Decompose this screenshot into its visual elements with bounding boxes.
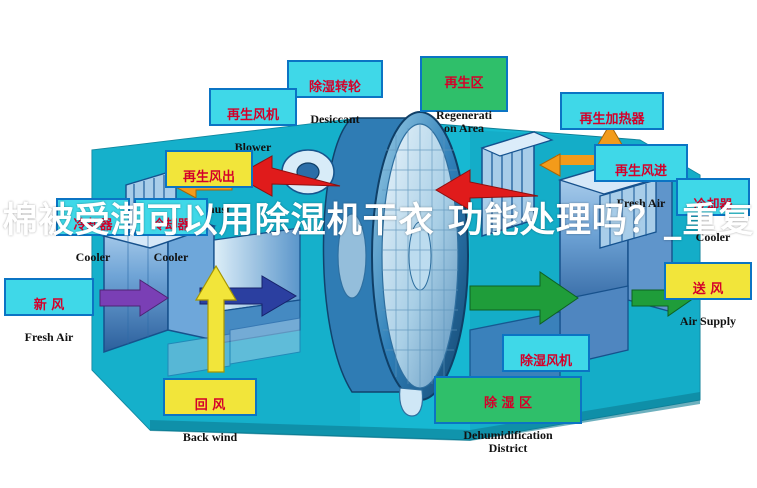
label-desiccant-wheel-zh: 除湿转轮 (289, 81, 381, 95)
label-air-supply-en: Air Supply (666, 315, 750, 328)
label-fresh-air: 新 风 Fresh Air (4, 278, 94, 316)
label-back-wind-zh: 回 风 (165, 399, 255, 413)
label-regeneration-area-en: Regenerati on Area (422, 109, 506, 135)
label-cooler-left-2-en: Cooler (136, 251, 206, 264)
label-dehumidification-district-zh: 除 湿 区 (436, 397, 580, 411)
label-air-supply: 送 风 Air Supply (664, 262, 752, 300)
label-regeneration-heater: 再生加热器 heater (560, 92, 664, 130)
label-cooler-left-en: Cooler (58, 251, 128, 264)
label-dehumidification-blower: 除湿风机 Blower (502, 334, 590, 372)
label-regeneration-exhaust-zh: 再生风出 (167, 171, 251, 185)
overlay-title: 棉被受潮可以用除湿机干衣 功能处理吗？_重复 (0, 198, 757, 244)
label-fresh-air-zh: 新 风 (6, 299, 92, 313)
diagram-canvas: 除湿转轮 Desiccant 再生区 Regenerati on Area 再生… (0, 0, 757, 488)
label-regeneration-blower-zh: 再生风机 (211, 109, 295, 123)
label-regeneration-exhaust: 再生风出 Exhaust (165, 150, 253, 188)
label-desiccant-wheel-en: Desiccant (289, 113, 381, 126)
label-desiccant-wheel: 除湿转轮 Desiccant (287, 60, 383, 98)
label-air-supply-zh: 送 风 (666, 283, 750, 297)
desiccant-wheel-graphic (323, 112, 468, 416)
label-regeneration-fresh-air-in: 再生风进 Fresh Air (594, 144, 688, 182)
label-back-wind-en: Back wind (165, 431, 255, 444)
label-dehumidification-district: 除 湿 区 Dehumidification District (434, 376, 582, 424)
label-regeneration-area: 再生区 Regenerati on Area (420, 56, 508, 112)
label-back-wind: 回 风 Back wind (163, 378, 257, 416)
label-regeneration-area-zh: 再生区 (422, 77, 506, 91)
label-dehumidification-district-en: Dehumidification District (436, 429, 580, 455)
label-regeneration-blower: 再生风机 Blower (209, 88, 297, 126)
label-regeneration-fresh-air-in-zh: 再生风进 (596, 165, 686, 179)
label-fresh-air-en: Fresh Air (6, 331, 92, 344)
label-dehumidification-blower-zh: 除湿风机 (504, 355, 588, 369)
label-regeneration-heater-zh: 再生加热器 (562, 113, 662, 127)
